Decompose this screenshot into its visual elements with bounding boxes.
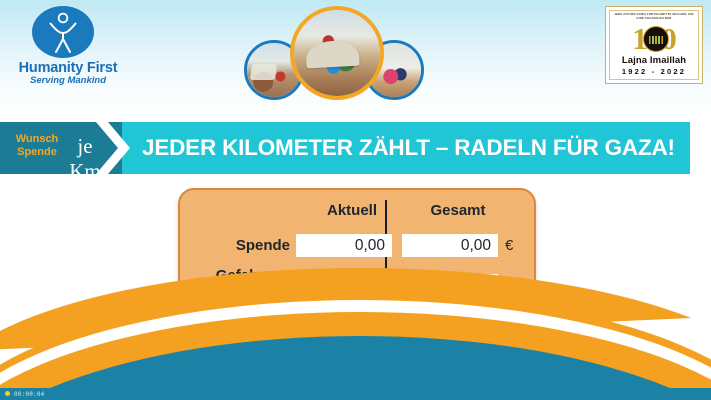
slide-canvas: Humanity First Serving Mankind JEDE NATI… <box>0 0 711 400</box>
photo-collage <box>236 0 426 110</box>
column-header-aktuell: Aktuell <box>302 202 402 219</box>
row-label-spende: Spende <box>190 237 290 254</box>
column-header-gesamt: Gesamt <box>408 202 508 219</box>
org-name: Humanity First <box>8 60 128 76</box>
wunsch-line-2: Spende <box>17 146 57 158</box>
logo-organisation-name: Lajna Imaillah <box>606 55 702 66</box>
humanity-first-figure-icon <box>32 6 94 58</box>
photo-center <box>290 6 384 100</box>
value-spende-aktuell[interactable]: 0,00 <box>296 234 392 257</box>
banner-headline: JEDER KILOMETER ZÄHLT – RADELN FÜR GAZA! <box>142 135 675 161</box>
value-spende-gesamt[interactable]: 0,00 <box>402 234 498 257</box>
wunschspende-label: Wunsch Spende <box>8 133 66 158</box>
logo-years: 1922 - 2022 <box>606 67 702 76</box>
headline-banner: Wunsch Spende je Km JEDER KILOMETER ZÄHL… <box>0 122 711 174</box>
humanity-first-logo: Humanity First Serving Mankind <box>8 4 128 88</box>
logo-emblem-icon <box>643 26 669 52</box>
lajna-imaillah-centenary-logo: JEDE NATION KANN FORTSCHRITTE MACHEN, DI… <box>605 6 703 84</box>
recording-status-bar: 00:00:04 <box>0 388 711 400</box>
wunsch-line-1: Wunsch <box>16 133 59 145</box>
unit-euro: € <box>505 237 513 254</box>
recording-indicator-icon <box>5 391 10 396</box>
recording-timecode: 00:00:04 <box>14 391 45 398</box>
per-km-label: je Km <box>62 134 108 184</box>
org-tagline: Serving Mankind <box>8 75 128 86</box>
